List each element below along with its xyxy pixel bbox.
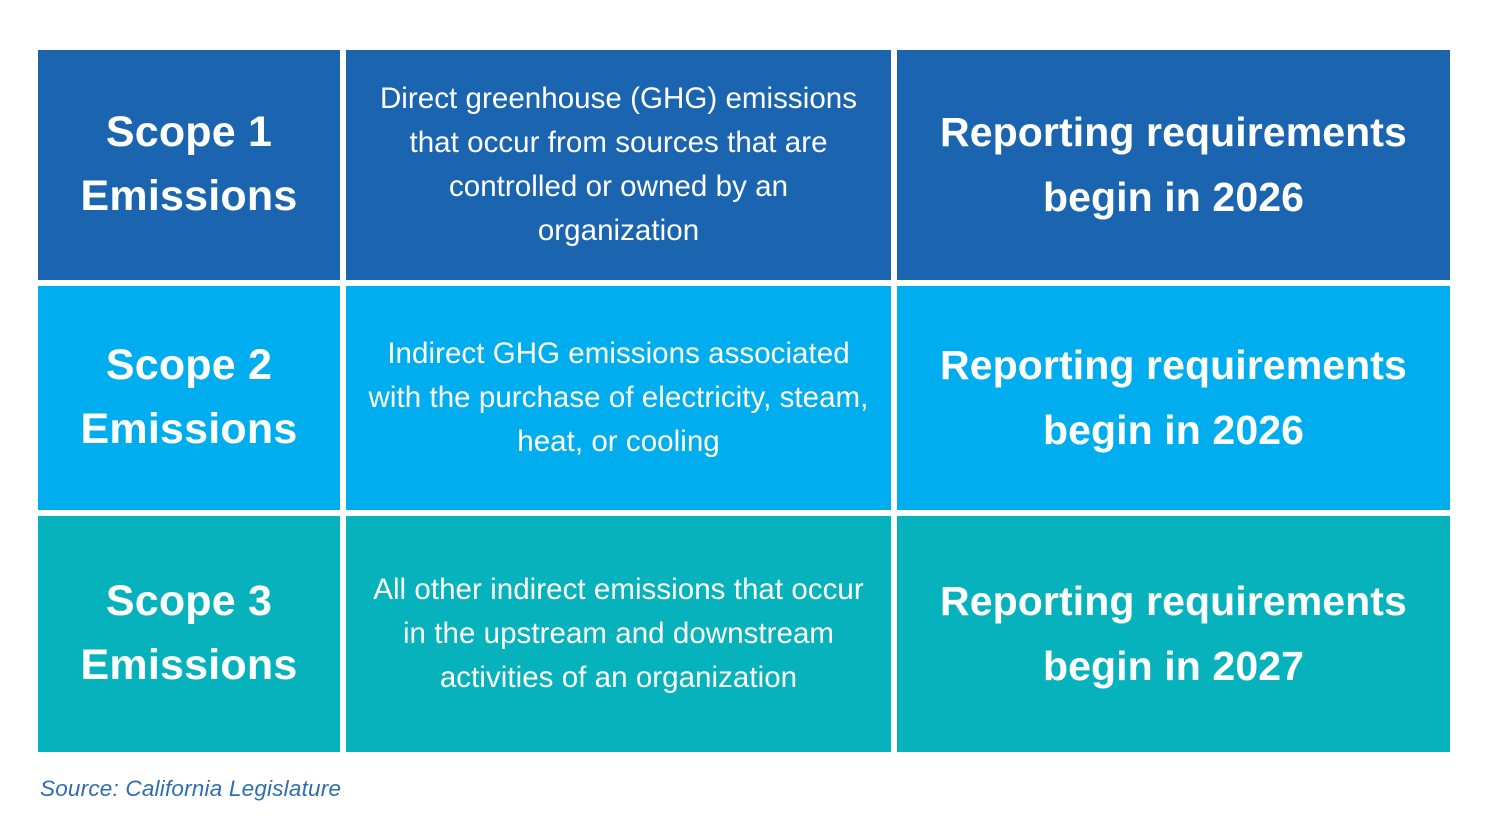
source-attribution: Source: California Legislature bbox=[40, 776, 341, 802]
definition-cell-row-3: All other indirect emissions that occur … bbox=[346, 516, 891, 752]
timeline-cell-row-3: Reporting requirements begin in 2027 bbox=[897, 516, 1450, 752]
timeline-text: Reporting requirements begin in 2026 bbox=[923, 333, 1424, 463]
definition-cell-row-2: Indirect GHG emissions associated with t… bbox=[346, 286, 891, 510]
scope-label-cell-row-3: Scope 3 Emissions bbox=[38, 516, 340, 752]
definition-text: All other indirect emissions that occur … bbox=[368, 568, 869, 700]
timeline-text: Reporting requirements begin in 2027 bbox=[923, 569, 1424, 699]
timeline-text: Reporting requirements begin in 2026 bbox=[923, 100, 1424, 230]
table-row: Scope 2 Emissions Indirect GHG emissions… bbox=[38, 286, 1450, 510]
scope-label-text: Scope 1 Emissions bbox=[52, 101, 326, 228]
scope-label-cell-row-1: Scope 1 Emissions bbox=[38, 50, 340, 280]
definition-text: Direct greenhouse (GHG) emissions that o… bbox=[368, 77, 869, 253]
scope-label-text: Scope 3 Emissions bbox=[52, 570, 326, 697]
ghg-scopes-infographic: Scope 1 Emissions Direct greenhouse (GHG… bbox=[0, 0, 1488, 837]
definition-text: Indirect GHG emissions associated with t… bbox=[368, 332, 869, 464]
timeline-cell-row-2: Reporting requirements begin in 2026 bbox=[897, 286, 1450, 510]
timeline-cell-row-1: Reporting requirements begin in 2026 bbox=[897, 50, 1450, 280]
scope-label-text: Scope 2 Emissions bbox=[52, 334, 326, 461]
definition-cell-row-1: Direct greenhouse (GHG) emissions that o… bbox=[346, 50, 891, 280]
scope-emissions-table: Scope 1 Emissions Direct greenhouse (GHG… bbox=[38, 50, 1450, 752]
table-row: Scope 1 Emissions Direct greenhouse (GHG… bbox=[38, 50, 1450, 280]
table-row: Scope 3 Emissions All other indirect emi… bbox=[38, 516, 1450, 752]
scope-label-cell-row-2: Scope 2 Emissions bbox=[38, 286, 340, 510]
